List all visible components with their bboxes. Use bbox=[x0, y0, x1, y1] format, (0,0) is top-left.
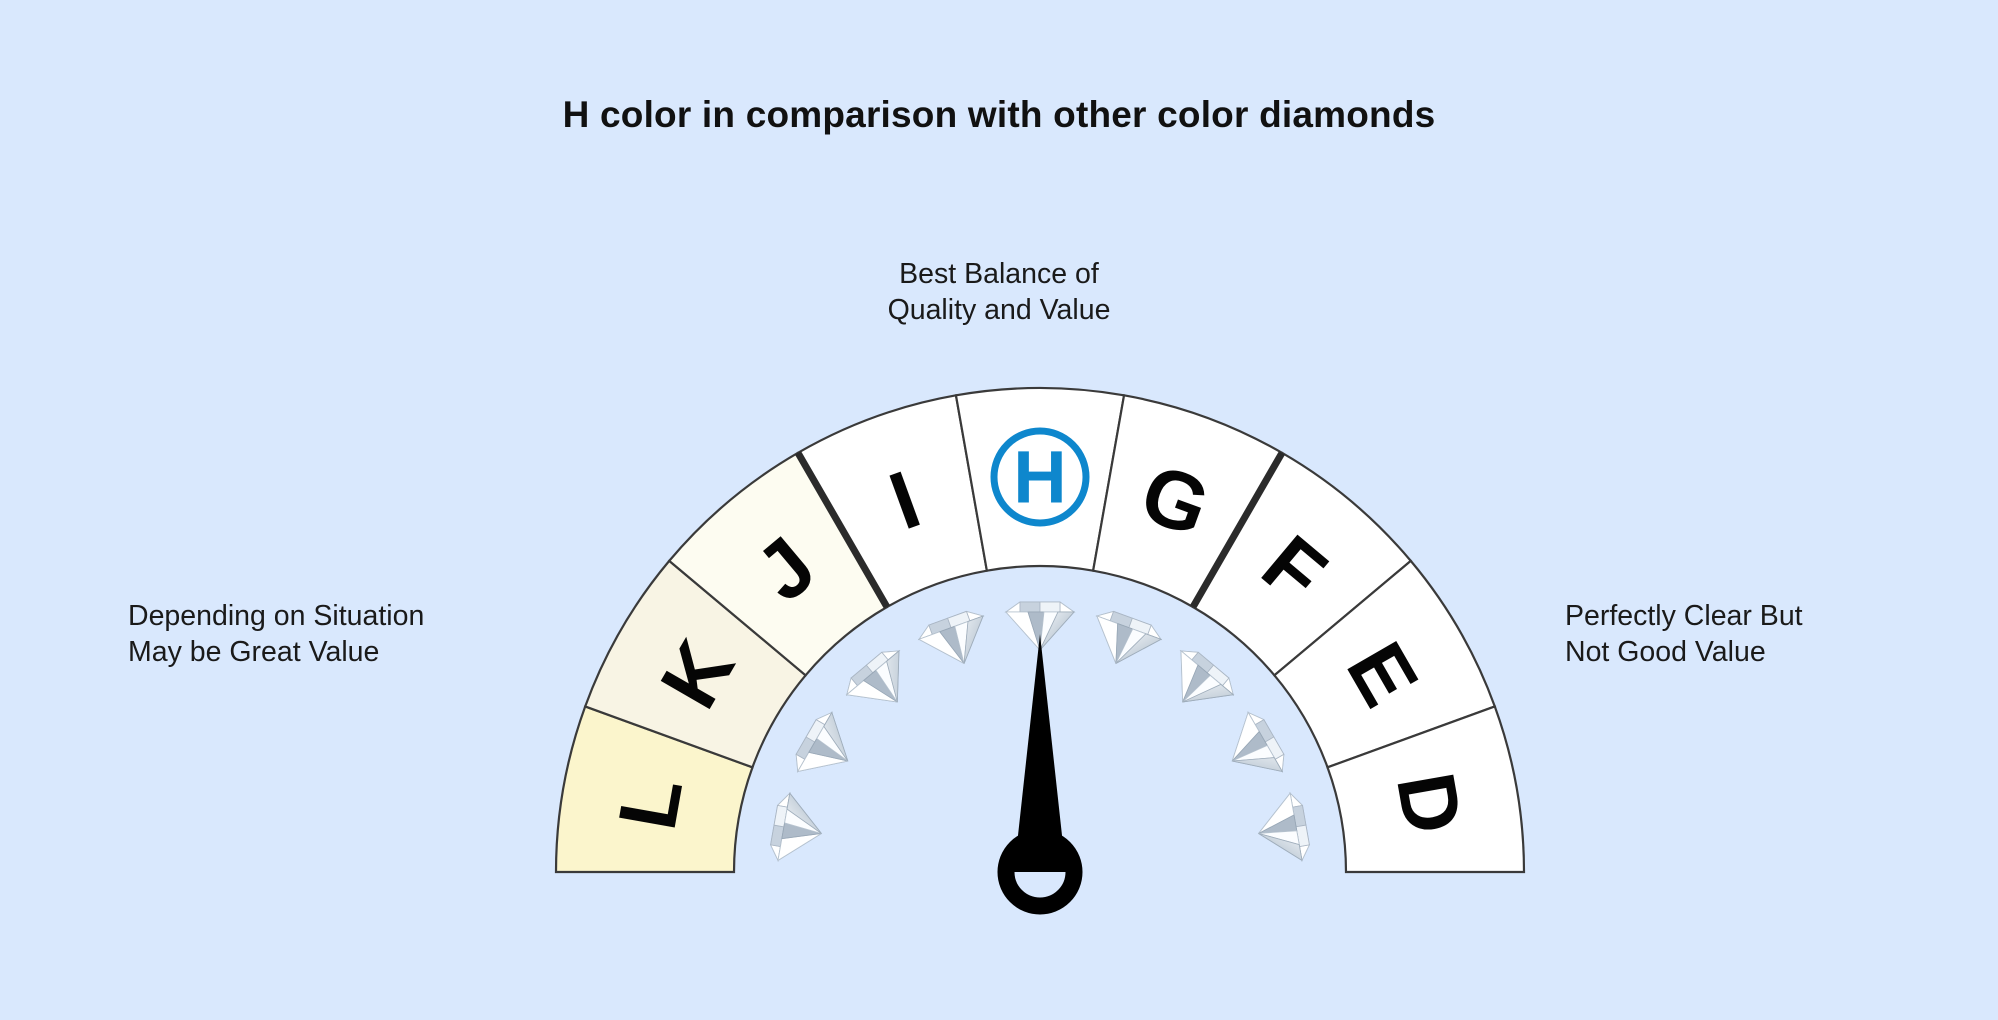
gauge-needle bbox=[1006, 634, 1074, 906]
diamond-icon bbox=[1084, 607, 1164, 675]
diamond-icon bbox=[1157, 643, 1240, 723]
color-grade-gauge: LKJIHGFED bbox=[0, 0, 1998, 1020]
diamond-icon bbox=[916, 607, 996, 675]
infographic-canvas: H color in comparison with other color d… bbox=[0, 0, 1998, 1020]
diamond-icon bbox=[840, 643, 923, 723]
diamond-icon bbox=[1215, 708, 1291, 791]
gauge-label-h: H bbox=[1013, 436, 1066, 519]
diamond-icon bbox=[768, 792, 827, 867]
diamond-icon bbox=[789, 708, 865, 791]
diamond-icon bbox=[1253, 792, 1312, 867]
